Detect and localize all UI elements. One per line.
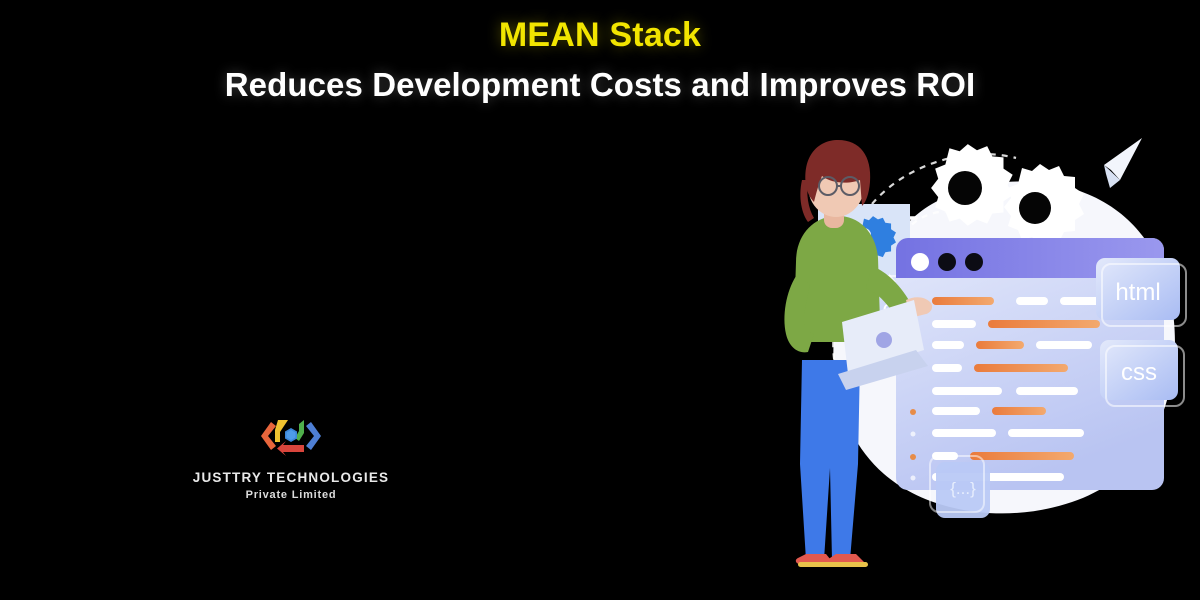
paper-plane-icon xyxy=(1104,138,1142,188)
css-tag: css xyxy=(1100,340,1184,406)
window-dot-white xyxy=(911,253,929,271)
headline-block: MEAN Stack Reduces Development Costs and… xyxy=(0,14,1200,105)
page-subtitle: Reduces Development Costs and Improves R… xyxy=(0,64,1200,105)
logo-legal-suffix: Private Limited xyxy=(191,489,391,501)
html-tag-label: html xyxy=(1115,279,1160,306)
page-title: MEAN Stack xyxy=(0,14,1200,57)
brand-logo: JUSTTRY TECHNOLOGIES Private Limited xyxy=(191,410,391,501)
developer-coding-illustration: c++ xyxy=(780,110,1200,600)
braces-tag-label: {...} xyxy=(950,479,976,498)
braces-tag: {...} xyxy=(930,456,990,518)
html-tag: html xyxy=(1096,258,1186,326)
css-tag-label: css xyxy=(1121,359,1157,386)
shoes xyxy=(796,554,868,567)
window-dot-2 xyxy=(965,253,983,271)
window-dot-1 xyxy=(938,253,956,271)
logo-company-name: JUSTTRY TECHNOLOGIES xyxy=(191,470,391,485)
banner-root: MEAN Stack Reduces Development Costs and… xyxy=(0,0,1200,600)
justtry-logo-icon xyxy=(256,410,326,462)
